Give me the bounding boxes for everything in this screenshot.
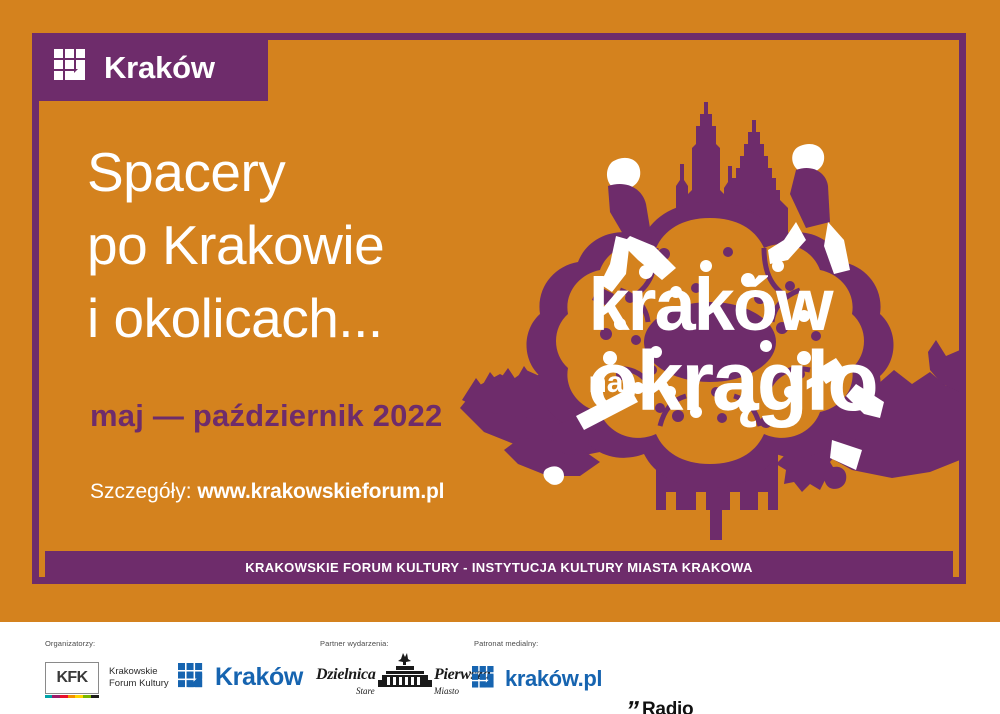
label-organizatorzy: Organizatorzy:: [45, 639, 95, 648]
kfk-color-stripe: [45, 695, 99, 699]
quote-mark-icon: ”: [623, 697, 640, 714]
radio-krakow-name: Radio Kraków: [642, 700, 1000, 714]
krakow-badge-label: Kraków: [104, 52, 215, 83]
krakow-grid-mark-icon: [472, 666, 497, 691]
kfk-mark-text: KFK: [56, 670, 87, 686]
kfk-logo[interactable]: KFK Krakowskie Forum Kultury: [45, 662, 169, 694]
krakow-na-okraglo-illustration: kraków na okrągło: [460, 40, 960, 540]
town-hall-icon: [374, 653, 436, 687]
headline-line-1: Spacery: [87, 136, 517, 209]
radio-krakow-line-1: Radio: [642, 699, 693, 714]
logo-line-2: okrągło: [587, 334, 876, 428]
headline-line-2: po Krakowie: [87, 209, 517, 282]
institution-ribbon-text: KRAKOWSKIE FORUM KULTURY - INSTYTUCJA KU…: [245, 560, 753, 575]
date-range: maj — październik 2022: [90, 398, 442, 434]
page-title: Spacery po Krakowie i okolicach...: [87, 136, 517, 355]
label-patronat-medialny: Patronat medialny:: [474, 639, 538, 648]
krakow-pl-label: kraków.pl: [505, 668, 602, 690]
kfk-name-line-1: Krakowskie: [109, 666, 158, 677]
website-url[interactable]: www.krakowskieforum.pl: [197, 480, 444, 503]
kfk-name-line-2: Forum Kultury: [109, 678, 169, 689]
poster: kraków na okrągło: [0, 0, 1000, 714]
dzielnica-script-left: Dzielnica: [316, 666, 376, 684]
kfk-mark-icon: KFK: [45, 662, 99, 694]
krakow-blue-label: Kraków: [215, 665, 303, 690]
krakow-pl-logo[interactable]: kraków.pl: [472, 666, 602, 691]
details-prefix: Szczegóły:: [90, 480, 192, 503]
partner-logo-strip: Organizatorzy: KFK Krakowskie Forum Kult…: [0, 622, 1000, 714]
dzielnica-sub-left: Stare: [356, 686, 375, 696]
krakow-logo-blue[interactable]: Kraków: [178, 663, 303, 691]
dzielnica-pierwsza-logo[interactable]: Dzielnica Pierwsza Stare Miasto: [316, 653, 494, 701]
headline-line-3: i okolicach...: [87, 282, 517, 355]
dzielnica-sub-right: Miasto: [434, 686, 459, 696]
kfk-logo-name: Krakowskie Forum Kultury: [109, 666, 169, 690]
label-partner-wydarzenia: Partner wydarzenia:: [320, 639, 389, 648]
institution-ribbon: KRAKOWSKIE FORUM KULTURY - INSTYTUCJA KU…: [45, 551, 953, 584]
krakow-city-logo-badge: Kraków: [32, 33, 268, 101]
krakow-grid-mark-icon: [178, 663, 206, 691]
radio-krakow-logo[interactable]: ” Radio Kraków: [626, 700, 1000, 714]
details-line: Szczegóły: www.krakowskieforum.pl: [90, 480, 444, 504]
krakow-grid-mark-icon: [54, 49, 90, 85]
